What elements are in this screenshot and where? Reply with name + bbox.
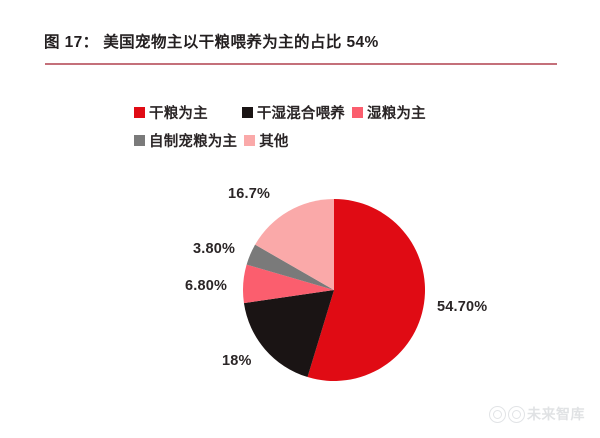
pie-chart-svg bbox=[0, 0, 600, 438]
watermark-logo-icon bbox=[489, 406, 506, 423]
pie-data-label-dry: 54.70% bbox=[437, 299, 487, 315]
pie-data-label-other: 16.7% bbox=[228, 186, 270, 202]
pie-data-label-wet: 6.80% bbox=[185, 278, 227, 294]
pie-data-label-mixed: 18% bbox=[222, 353, 252, 369]
pie-slice-group bbox=[243, 199, 425, 381]
pie-data-label-homemade: 3.80% bbox=[193, 241, 235, 257]
watermark-seal-icon bbox=[508, 406, 525, 423]
watermark: 未来智库 bbox=[489, 404, 585, 424]
watermark-text: 未来智库 bbox=[527, 404, 585, 424]
pie-chart bbox=[0, 0, 600, 438]
